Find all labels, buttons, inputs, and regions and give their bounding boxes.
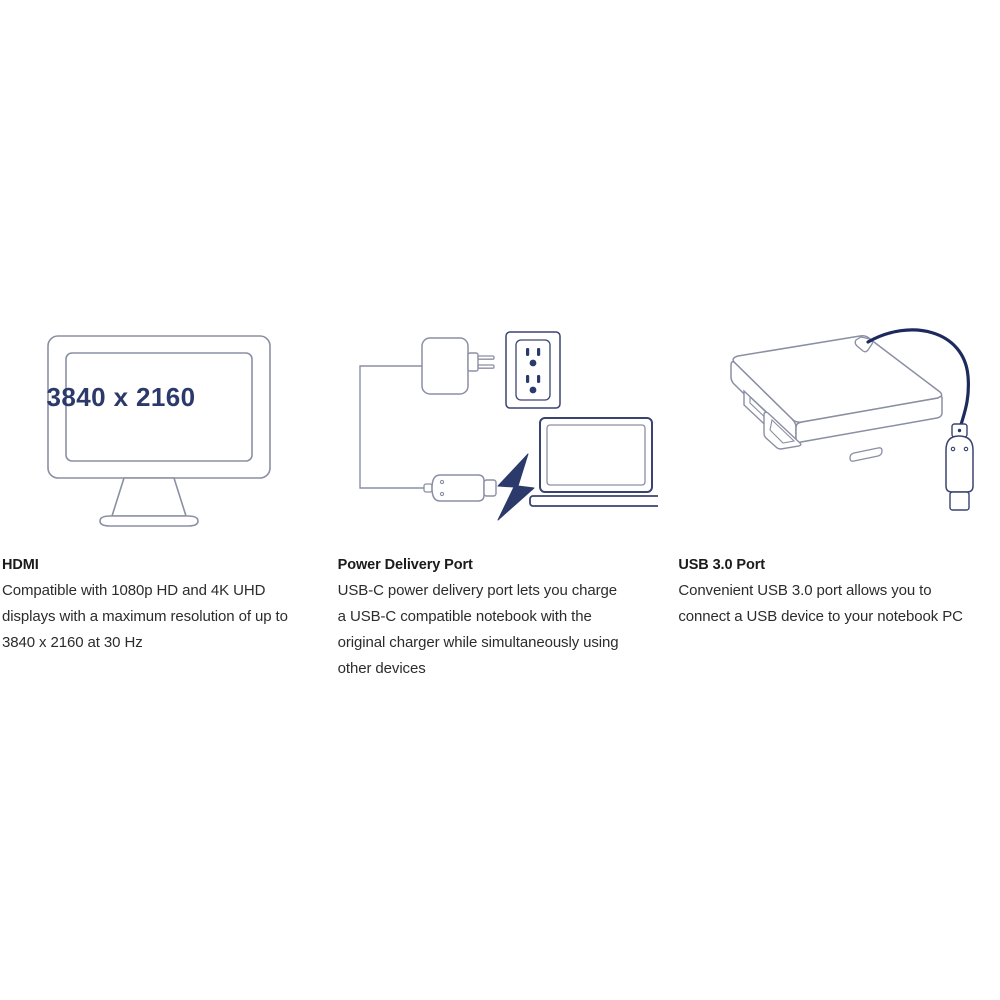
- feature-body-power-delivery: USB-C power delivery port lets you charg…: [338, 578, 626, 682]
- outlet-top-slot-right: [537, 348, 540, 356]
- usb-connector-tip: [950, 492, 969, 510]
- outlet-top-slot-left: [526, 348, 529, 356]
- product-feature-infographic: 3840 x 2160 HDMI Compatible with 1080p H…: [0, 0, 1000, 1000]
- feature-body-hdmi: Compatible with 1080p HD and 4K UHD disp…: [2, 578, 302, 656]
- usb-connector-nub-dot: [958, 429, 961, 432]
- feature-column-power-delivery: Power Delivery Port USB-C power delivery…: [324, 320, 660, 682]
- connector-strain-relief: [424, 484, 432, 492]
- feature-columns: 3840 x 2160 HDMI Compatible with 1080p H…: [0, 320, 1000, 682]
- outlet-bottom-ground: [529, 387, 536, 394]
- power-delivery-svg: [338, 320, 658, 530]
- usb-hub-svg: [678, 320, 988, 530]
- feature-title-usb-port: USB 3.0 Port: [678, 556, 1000, 574]
- screen-resolution-label: 3840 x 2160: [2, 382, 240, 413]
- connector-tip: [484, 480, 496, 496]
- power-delivery-illustration: [338, 320, 660, 530]
- monitor-stand-neck: [112, 478, 186, 516]
- usb-hub-illustration: [678, 320, 1000, 530]
- charger-body: [422, 338, 468, 394]
- usb-connector-barrel: [946, 436, 973, 492]
- charger-prong-top: [478, 356, 494, 359]
- monitor-svg: [2, 320, 302, 530]
- laptop-display: [547, 425, 645, 485]
- monitor-illustration: 3840 x 2160: [2, 320, 324, 530]
- feature-title-hdmi: HDMI: [2, 556, 324, 574]
- outlet-top-ground: [529, 360, 536, 367]
- feature-title-power-delivery: Power Delivery Port: [338, 556, 660, 574]
- outlet-bottom-slot-right: [537, 375, 540, 383]
- hub-usb-c-port: [850, 448, 882, 461]
- charger-neck: [468, 353, 478, 371]
- feature-column-hdmi: 3840 x 2160 HDMI Compatible with 1080p H…: [0, 320, 324, 656]
- power-cable: [360, 366, 424, 488]
- laptop-base: [530, 496, 658, 506]
- outlet-bottom-slot-left: [526, 375, 529, 383]
- charger-prong-bottom: [478, 365, 494, 368]
- feature-column-usb-port: USB 3.0 Port Convenient USB 3.0 port all…: [659, 320, 1000, 630]
- monitor-stand-base: [100, 516, 198, 526]
- connector-barrel: [432, 475, 484, 501]
- feature-body-usb-port: Convenient USB 3.0 port allows you to co…: [678, 578, 976, 630]
- lightning-bolt-icon: [498, 454, 534, 520]
